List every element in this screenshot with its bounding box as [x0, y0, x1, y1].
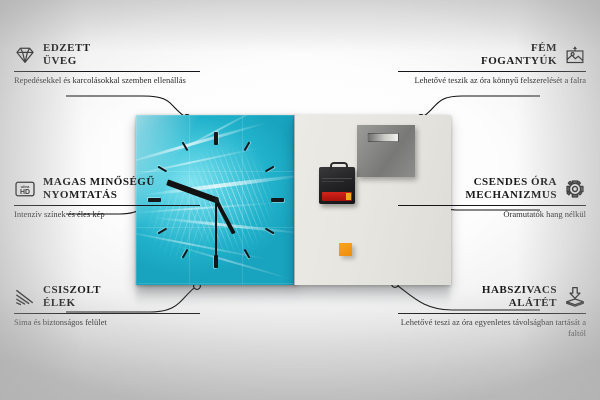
clock-center-pivot: [214, 198, 219, 203]
feature-rule: [14, 71, 200, 72]
mechanism-hook: [330, 162, 348, 170]
feature-description: Óramutatók hang nélkül: [398, 209, 586, 220]
feature-title-line1: CSENDES ÓRA: [465, 176, 557, 189]
foam-spacer-pad: [339, 243, 352, 256]
ultra-hd-icon: ultra HD: [14, 178, 36, 200]
clock-mechanism-box: [319, 167, 355, 204]
feature-metal-handles: FÉM FOGANTYÚK Lehetővé teszik az óra kön…: [398, 42, 586, 86]
feature-foam-pad: HABSZIVACS ALÁTÉT Lehetővé teszi az óra …: [398, 284, 586, 338]
feature-tempered-glass: EDZETT ÜVEG Repedésekkel és karcolásokka…: [14, 42, 200, 86]
feature-title-line1: CSISZOLT: [43, 284, 101, 297]
mechanism-ridge-secondary: [322, 181, 344, 182]
feature-title-line2: ALÁTÉT: [482, 297, 557, 310]
feature-title-line2: ÉLEK: [43, 297, 101, 310]
feature-description: Lehetővé teszik az óra könnyű felszerelé…: [398, 75, 586, 86]
connector-tempered-glass: [66, 96, 184, 116]
feature-title-line2: FOGANTYÚK: [481, 55, 557, 68]
feature-title-line1: FÉM: [481, 42, 557, 55]
feature-description: Lehetővé teszi az óra egyenletes távolsá…: [398, 317, 586, 338]
metal-hanger-plate: [357, 125, 415, 177]
feature-description: Sima és biztonságos felület: [14, 317, 200, 328]
diamond-icon: [14, 44, 36, 66]
feature-title-line2: MECHANIZMUS: [465, 189, 557, 202]
mechanism-red-label: [322, 192, 352, 201]
polished-edges-icon: [14, 286, 36, 308]
picture-hanging-icon: [564, 44, 586, 66]
svg-text:HD: HD: [20, 189, 30, 196]
feature-rule: [398, 71, 586, 72]
feature-title-line2: NYOMTATÁS: [43, 189, 155, 202]
feature-rule: [14, 205, 200, 206]
connector-metal-handles: [424, 96, 540, 116]
feature-rule: [398, 313, 586, 314]
mechanism-ridge: [322, 178, 352, 179]
feature-quiet-mechanism: CSENDES ÓRA MECHANIZMUS: [398, 176, 586, 220]
feature-title-line1: HABSZIVACS: [482, 284, 557, 297]
feature-title-line2: ÜVEG: [43, 55, 91, 68]
feature-title-line1: EDZETT: [43, 42, 91, 55]
feature-rule: [398, 205, 586, 206]
feature-description: Intenzív színek és éles kép: [14, 209, 200, 220]
feature-high-quality-print: ultra HD MAGAS MINŐSÉGŰ NYOMTATÁS Intenz…: [14, 176, 200, 220]
gear-icon: [564, 178, 586, 200]
feature-rule: [14, 313, 200, 314]
infographic-canvas: EDZETT ÜVEG Repedésekkel és karcolásokka…: [0, 0, 600, 400]
feature-polished-edges: CSISZOLT ÉLEK Sima és biztonságos felüle…: [14, 284, 200, 328]
feature-description: Repedésekkel és karcolásokkal szemben el…: [14, 75, 200, 86]
foam-pad-arrow-icon: [564, 286, 586, 308]
feature-title-line1: MAGAS MINŐSÉGŰ: [43, 176, 155, 189]
